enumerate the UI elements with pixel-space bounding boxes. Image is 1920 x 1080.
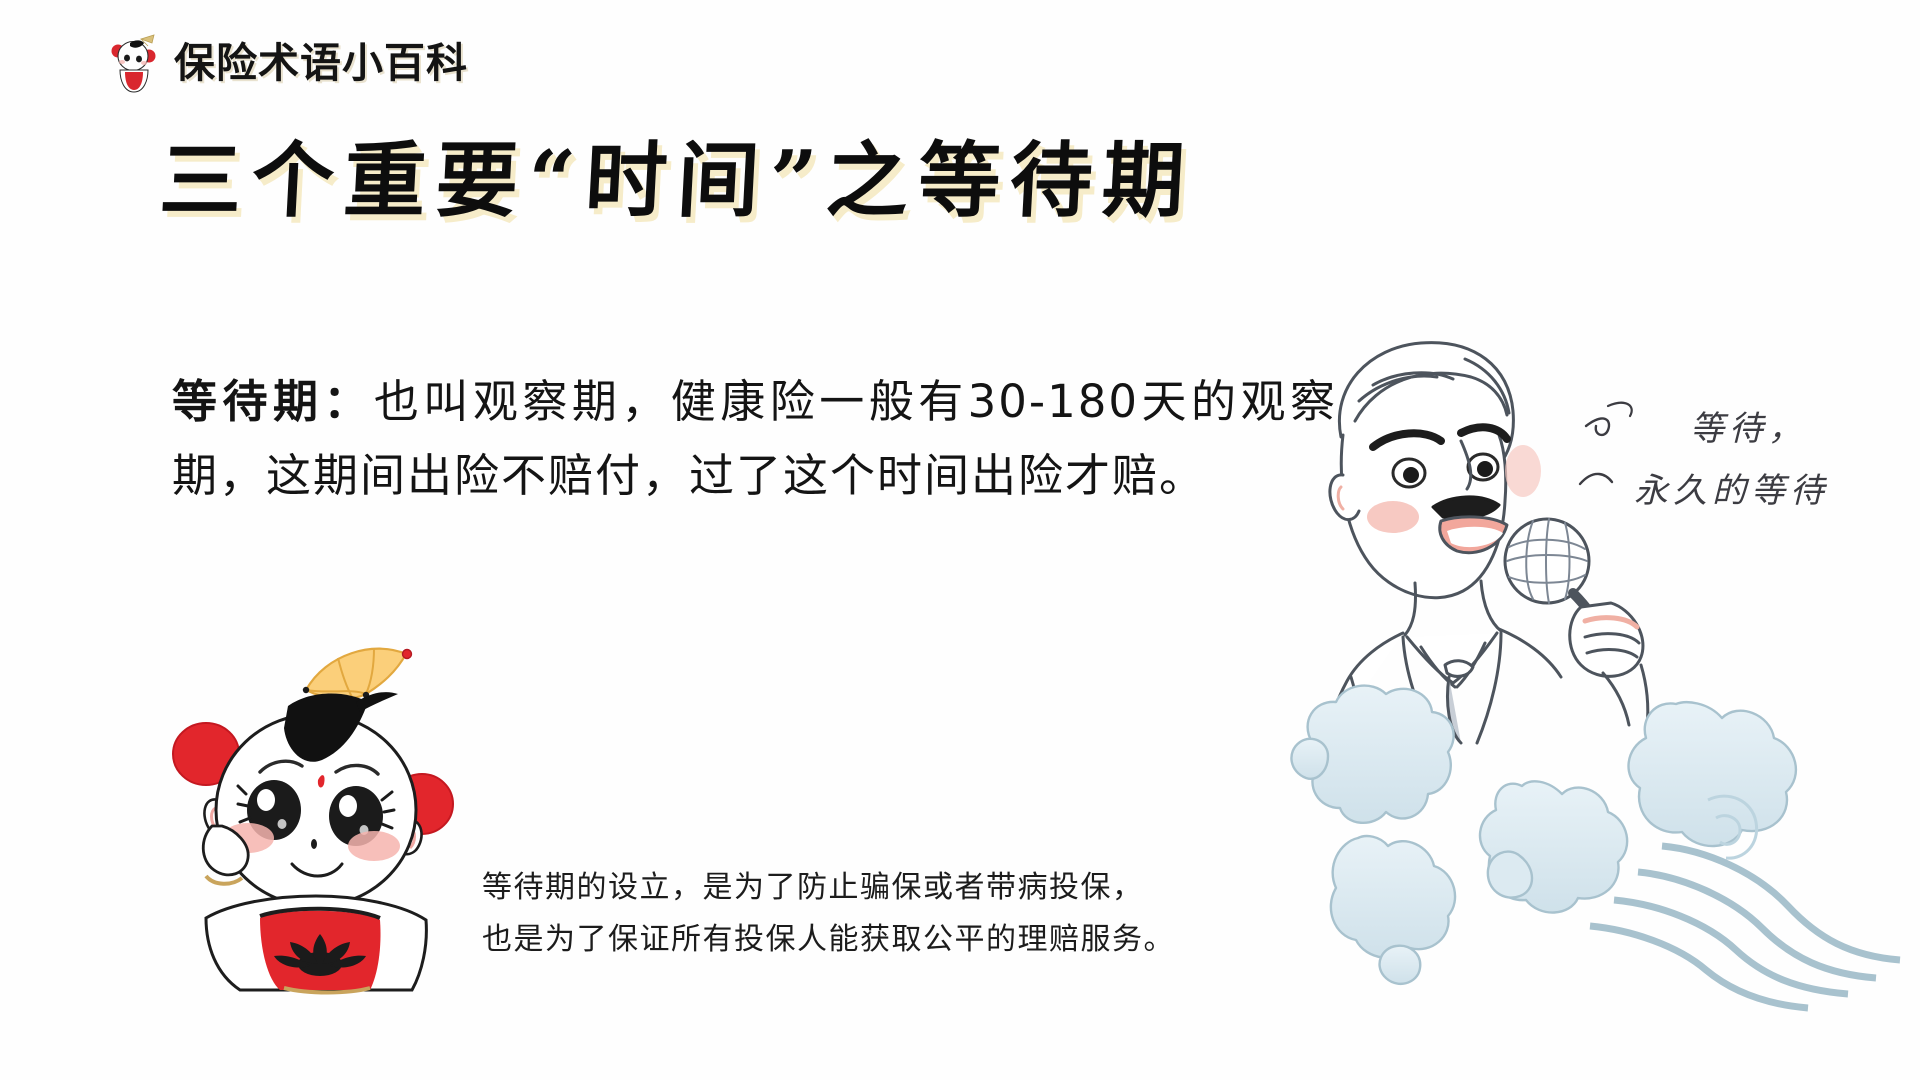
slide-canvas: 保险术语小百科 三个重要“时间”之等待期 等待期：也叫观察期，健康险一般有30-… [0, 0, 1920, 1080]
umbrella-icon [303, 648, 412, 699]
auspicious-cloud-ornament [1270, 660, 1920, 1010]
footnote-line-1: 等待期的设立，是为了防止骗保或者带病投保， [482, 862, 1302, 914]
footnote-line-2: 也是为了保证所有投保人能获取公平的理赔服务。 [482, 914, 1302, 966]
brand-title: 保险术语小百科 [174, 43, 468, 84]
definition-paragraph: 等待期：也叫观察期，健康险一般有30-180天的观察期，这期间出险不赔付，过了这… [172, 365, 1337, 513]
brand-header: 保险术语小百科 [108, 30, 468, 96]
child-mascot-icon [108, 30, 160, 96]
page-title: 三个重要“时间”之等待期 [158, 138, 1197, 224]
footnote-caption: 等待期的设立，是为了防止骗保或者带病投保， 也是为了保证所有投保人能获取公平的理… [482, 862, 1302, 966]
definition-term: 等待期： [172, 375, 374, 428]
child-mascot-with-umbrella-illustration [160, 598, 490, 998]
